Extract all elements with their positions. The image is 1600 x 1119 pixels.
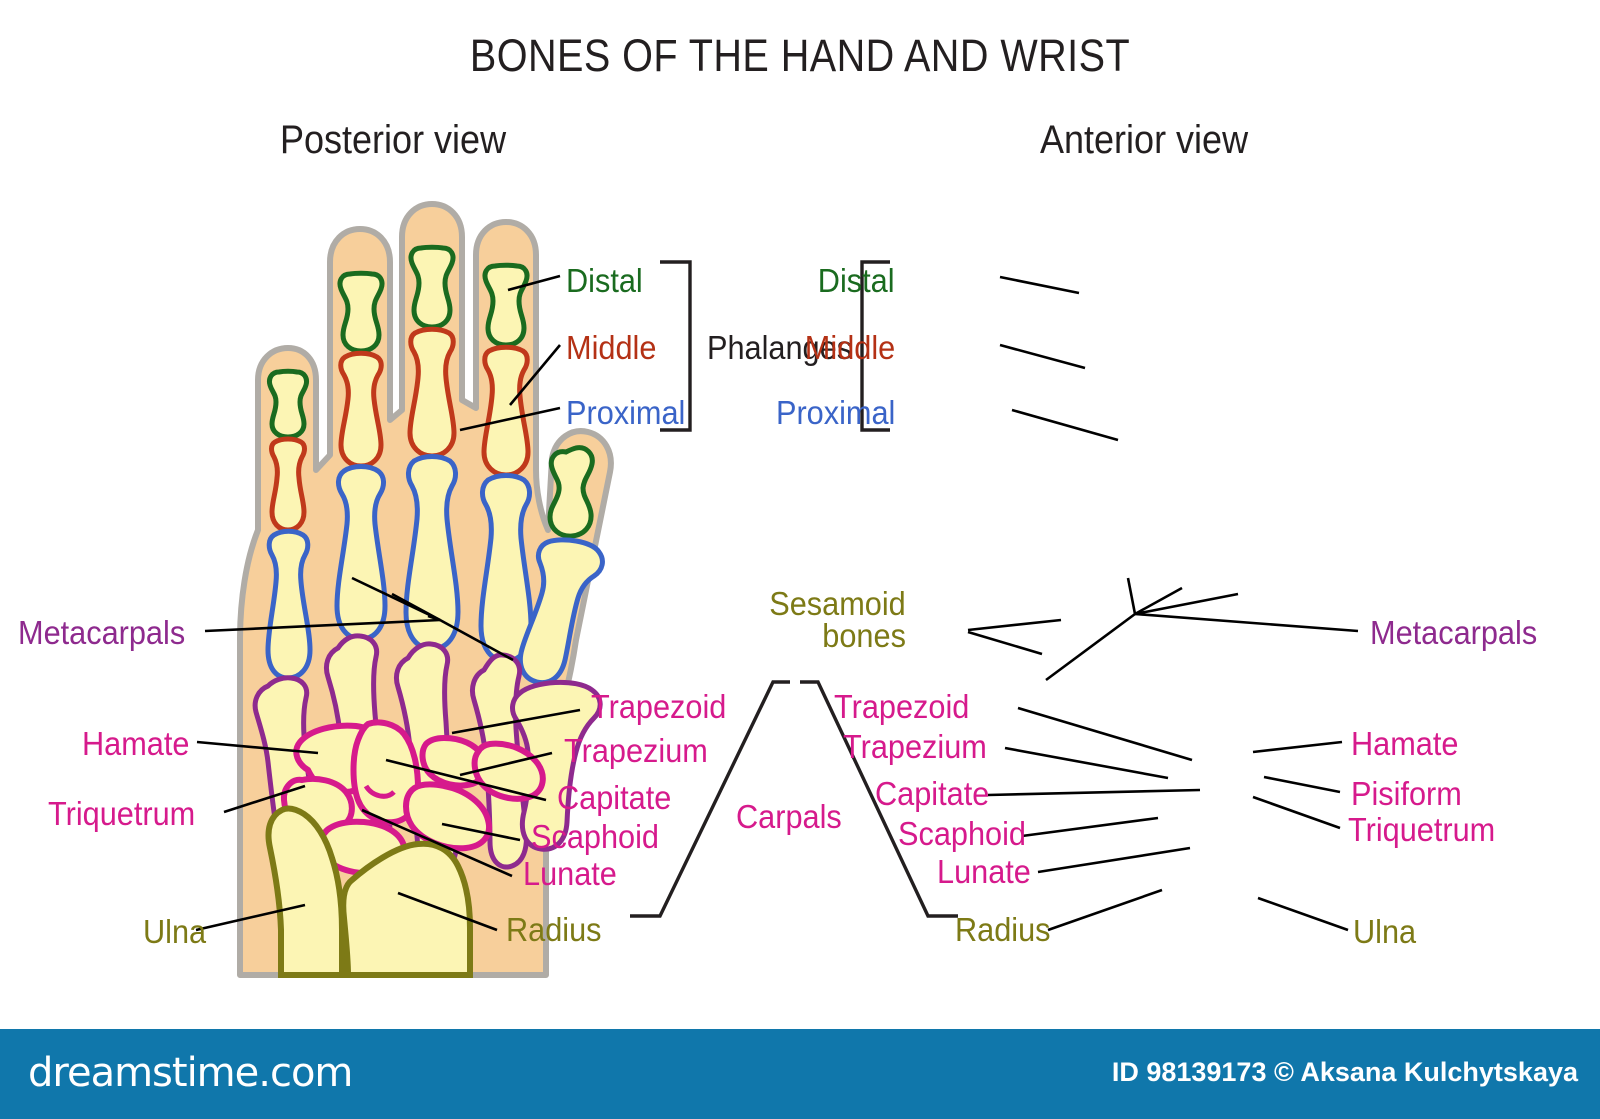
dreamstime-logo[interactable]: dreamstime.com [28, 1050, 352, 1096]
label-sesamoid-bones-line2: bones [822, 619, 906, 652]
leader-trapezium-right [1005, 748, 1168, 778]
label-distal-left: Distal [566, 264, 643, 297]
bone-proximal-phalanx-4 [337, 467, 385, 640]
label-capitate-posterior: Capitate [557, 781, 671, 814]
label-trapezium-anterior: Trapezium [843, 730, 987, 763]
label-triquetrum-posterior: Triquetrum [48, 797, 195, 830]
label-trapezoid-posterior: Trapezoid [591, 690, 726, 723]
leader-lines-anterior [968, 277, 1358, 930]
bone-middle-phalanx-3 [410, 329, 454, 456]
label-scaphoid-posterior: Scaphoid [531, 820, 659, 853]
bone-distal-phalanx-3 [411, 247, 453, 327]
label-carpals-group: Carpals [736, 800, 842, 833]
label-scaphoid-anterior: Scaphoid [898, 817, 1026, 850]
bone-distal-phalanx-1 [550, 448, 592, 536]
bone-middle-phalanx-2 [484, 347, 528, 475]
label-pisiform-anterior: Pisiform [1351, 777, 1462, 810]
leader-radius-right [1048, 890, 1162, 930]
bone-distal-phalanx-4 [340, 273, 382, 351]
leader-triquetrum-right [1253, 797, 1340, 828]
leader-ulna-right [1258, 898, 1348, 930]
leader-metacarpals-right-a [1135, 614, 1358, 631]
leader-pisiform-right [1264, 777, 1340, 792]
bone-proximal-phalanx-5 [268, 531, 310, 678]
label-proximal-right: Proximal [776, 396, 895, 429]
leader-metacarpals-right-e [1046, 614, 1135, 680]
label-distal-right: Distal [818, 264, 895, 297]
leader-proximal-right [1012, 410, 1118, 440]
label-triquetrum-anterior: Triquetrum [1348, 813, 1495, 846]
label-metacarpals-posterior: Metacarpals [18, 616, 185, 649]
label-sesamoid-bones: Sesamoid [770, 587, 906, 620]
label-lunate-posterior: Lunate [523, 857, 617, 890]
label-middle-right: Middle [805, 331, 895, 364]
label-middle-left: Middle [566, 331, 656, 364]
label-trapezium-posterior: Trapezium [564, 734, 708, 767]
leader-capitate-right [988, 790, 1200, 795]
bone-proximal-phalanx-2 [481, 476, 531, 662]
label-hamate-anterior: Hamate [1351, 727, 1458, 760]
leader-sesamoid-b [968, 632, 1042, 654]
label-ulna-anterior: Ulna [1353, 915, 1416, 948]
leader-trapezoid-right [1018, 708, 1192, 760]
leader-hamate-right [1253, 742, 1342, 752]
label-lunate-anterior: Lunate [937, 855, 1031, 888]
label-radius-anterior: Radius [955, 913, 1051, 946]
leader-metacarpals-right-b [1128, 578, 1135, 614]
leader-distal-right [1000, 277, 1079, 293]
leader-lunate-right [1038, 848, 1190, 872]
label-capitate-anterior: Capitate [875, 777, 989, 810]
leader-middle-right [1000, 345, 1085, 368]
diagram-canvas: BONES OF THE HAND AND WRIST Posterior vi… [0, 0, 1600, 1119]
label-radius-posterior: Radius [506, 913, 602, 946]
label-trapezoid-anterior: Trapezoid [834, 690, 969, 723]
hand-anatomy-illustration [0, 0, 1600, 1119]
bone-distal-phalanx-5 [269, 371, 306, 437]
label-ulna-posterior: Ulna [143, 915, 206, 948]
bone-distal-phalanx-2 [485, 265, 527, 345]
label-metacarpals-anterior: Metacarpals [1370, 616, 1537, 649]
label-hamate-posterior: Hamate [82, 727, 189, 760]
image-credit: ID 98139173 © Aksana Kulchytskaya [1112, 1057, 1578, 1088]
bone-middle-phalanx-5 [272, 439, 305, 530]
leader-sesamoid-a [968, 620, 1061, 630]
bone-middle-phalanx-4 [341, 353, 382, 466]
leader-scaphoid-right [1022, 818, 1158, 836]
label-proximal-left: Proximal [566, 396, 685, 429]
